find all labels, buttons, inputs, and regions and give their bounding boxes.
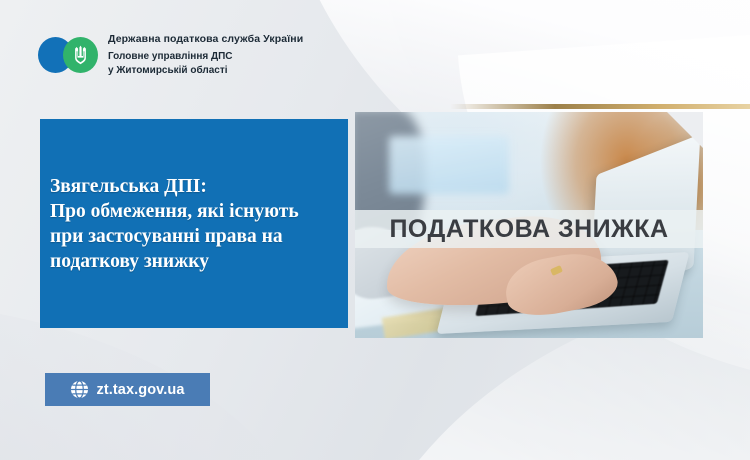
title-line-4: податкову знижку xyxy=(50,249,299,274)
title-card: Звягельська ДПІ: Про обмеження, які існу… xyxy=(40,119,348,328)
title-line-2: Про обмеження, які існують xyxy=(50,199,299,224)
logo-text-block: Державна податкова служба України Головн… xyxy=(108,32,303,77)
trident-emblem-icon xyxy=(63,37,98,73)
logo-line-service-name: Державна податкова служба України xyxy=(108,32,303,47)
photo-caption-text: ПОДАТКОВА ЗНИЖКА xyxy=(389,215,668,244)
website-url-badge[interactable]: zt.tax.gov.ua xyxy=(45,373,210,406)
photo-monitor-blur xyxy=(389,136,509,194)
photo-corner-cut xyxy=(666,112,703,149)
organization-logo: Державна податкова служба України Головн… xyxy=(38,32,303,77)
decorative-gold-stripe xyxy=(450,104,750,109)
page-title: Звягельська ДПІ: Про обмеження, які існу… xyxy=(46,174,299,274)
logo-marks xyxy=(38,37,98,73)
website-url-text: zt.tax.gov.ua xyxy=(96,382,184,398)
tax-service-announcement-banner: Державна податкова служба України Головн… xyxy=(0,0,750,460)
globe-icon xyxy=(70,380,89,399)
photo-caption-band: ПОДАТКОВА ЗНИЖКА xyxy=(355,210,703,248)
title-line-1: Звягельська ДПІ: xyxy=(50,174,299,199)
logo-line-department: Головне управління ДПС xyxy=(108,50,303,64)
logo-line-region: у Житомирській області xyxy=(108,64,303,78)
title-line-3: при застосуванні права на xyxy=(50,224,299,249)
illustration-photo: ПОДАТКОВА ЗНИЖКА xyxy=(355,112,703,338)
